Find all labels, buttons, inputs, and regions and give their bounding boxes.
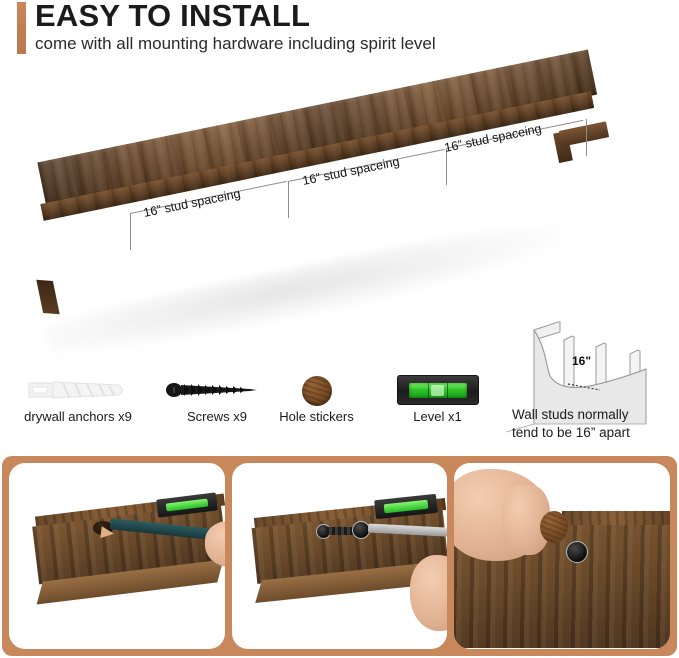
accent-bar (17, 2, 26, 54)
hardware-label-drywall-anchors: drywall anchors x9 (8, 408, 148, 425)
screw-svg (164, 380, 264, 400)
installation-steps-strip (2, 456, 677, 656)
stud-measure-label: 16" (572, 354, 591, 368)
hardware-item-level: Level x1 (375, 372, 500, 425)
step-photo-apply-hole-sticker (454, 463, 670, 649)
spirit-level-icon (375, 372, 500, 408)
hole-sticker-icon (254, 372, 379, 408)
drywall-anchor-svg (23, 378, 133, 402)
spirit-level-vial (409, 383, 467, 398)
drywall-anchor-icon (8, 372, 148, 408)
infographic-page: EASY TO INSTALL come with all mounting h… (0, 0, 679, 658)
shelf-left-endcap (36, 280, 59, 315)
spirit-level-body (397, 375, 479, 405)
step-photo-mark-holes-with-pencil (9, 463, 225, 649)
step-photo-drive-screws (232, 463, 448, 649)
wall-stud-caption-line1: Wall studs normally (512, 406, 630, 424)
spirit-level-bubble (431, 385, 444, 396)
hole-sticker-shape (302, 376, 332, 406)
measure-tick-4 (586, 119, 587, 156)
measure-tick-2 (288, 181, 289, 218)
measure-tick-1 (130, 213, 131, 250)
shelf-right-lip (559, 121, 609, 146)
hero-shelf-illustration: 16” stud spaceing 16” stud spaceing 16” … (0, 66, 679, 366)
page-title: EASY TO INSTALL (35, 0, 310, 34)
page-subtitle: come with all mounting hardware includin… (35, 33, 436, 55)
wall-stud-caption: Wall studs normally tend to be 16” apart (512, 406, 630, 442)
wall-stud-caption-line2: tend to be 16” apart (512, 424, 630, 442)
step3-shelf-top (562, 511, 670, 525)
hardware-item-hole-stickers: Hole stickers (254, 372, 379, 425)
hardware-label-hole-stickers: Hole stickers (254, 408, 379, 425)
hardware-label-level: Level x1 (375, 408, 500, 425)
hardware-item-drywall-anchors: drywall anchors x9 (8, 372, 148, 425)
step2-hand (410, 555, 448, 631)
